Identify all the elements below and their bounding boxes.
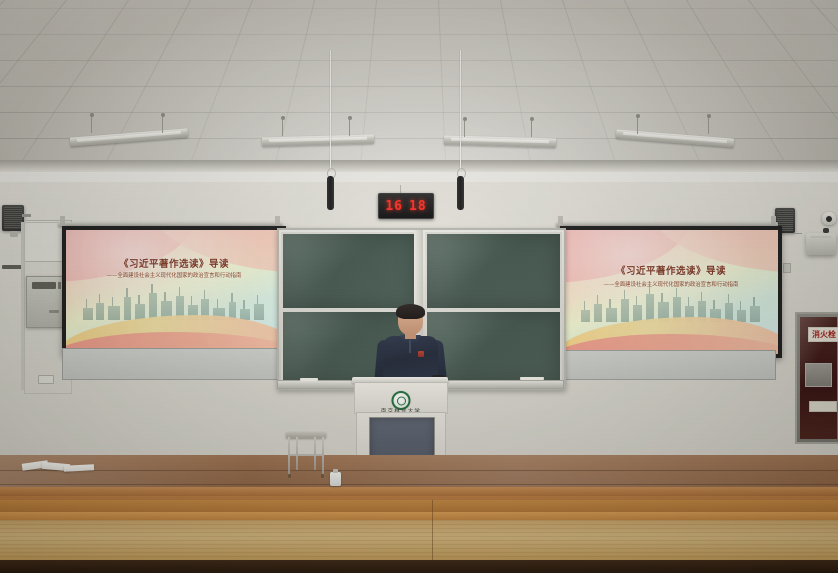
light-mount: [707, 114, 711, 118]
cord-grip-left[interactable]: [327, 176, 334, 210]
cabinet-glass-reflection: [800, 317, 837, 439]
stool-foot-2: [321, 474, 324, 478]
left-screen-bracket-b: [275, 216, 280, 226]
security-camera: [822, 212, 836, 225]
light-mount: [90, 113, 94, 117]
right-slide: 《习近平著作选读》导读 ——全面建设社会主义现代化国家的政治宣言和行动指南: [564, 230, 778, 354]
desk-wood-grain: [0, 520, 838, 562]
cabinet-interior: 消火栓: [800, 317, 837, 439]
light-rod: [282, 119, 283, 136]
stage-nosing: [0, 487, 838, 496]
lectern-header: 南京林业大学: [354, 382, 448, 414]
light-mount: [161, 113, 165, 117]
projector-vent: [811, 236, 831, 238]
emblem-core: [397, 396, 406, 405]
stool-seat: [286, 432, 326, 438]
light-rod: [464, 120, 465, 137]
shirt-logo: [418, 351, 424, 357]
panel-display-slot: [32, 282, 56, 289]
speaker-grill: [4, 207, 22, 229]
led-wall-clock: 16 18: [378, 193, 434, 219]
right-screen-bracket-a: [558, 216, 563, 226]
wall-switch-right[interactable]: [783, 263, 791, 273]
ceiling-projector-right: [806, 233, 836, 255]
left-slide: 《习近平著作选读》导读 ——全面建设社会主义现代化国家的政治宣言和行动指南: [66, 230, 282, 352]
water-bottle[interactable]: [330, 472, 341, 486]
polo-placket: [409, 340, 411, 353]
light-rod: [531, 120, 532, 137]
cord-grip-right[interactable]: [457, 176, 464, 210]
slide-glare-right: [564, 230, 778, 354]
right-projection-screen: 《习近平著作选读》导读 ——全面建设社会主义现代化国家的政治宣言和行动指南: [560, 226, 782, 358]
speaker-bracket-left: [10, 231, 18, 237]
bottle-cap: [333, 469, 338, 473]
panel-handle[interactable]: [49, 310, 59, 313]
light-rod: [708, 117, 709, 134]
chalk-piece-2[interactable]: [520, 377, 544, 380]
light-mount: [281, 116, 285, 120]
screen-pull-cord-right[interactable]: [460, 50, 461, 170]
speaker-cable: [780, 233, 802, 234]
speaker-mount-left: [22, 214, 31, 217]
blackboard-panel-tl: [281, 232, 416, 310]
stool-foot-1: [288, 474, 291, 478]
presenter-hair: [396, 304, 425, 319]
stage-seam-1: [0, 470, 838, 471]
slide-glare-left: [66, 230, 282, 352]
presenter: [376, 306, 448, 388]
light-mount: [463, 117, 467, 121]
camera-lens: [826, 216, 832, 222]
left-screen-bracket-a: [60, 216, 65, 226]
wall-conduit-left: [21, 222, 24, 390]
clock-hours: 16: [385, 199, 403, 214]
screen-pull-cord-left[interactable]: [330, 50, 331, 170]
light-mount: [636, 114, 640, 118]
clock-minutes: 18: [409, 199, 427, 214]
wall-top-shadow: [0, 160, 838, 172]
light-rod: [637, 117, 638, 134]
lecture-hall-photo: 16 18 消火栓: [0, 0, 838, 573]
right-screen-lower-panel: [560, 350, 776, 380]
suspended-ceiling: [0, 0, 838, 165]
stool-leg-1: [288, 437, 290, 475]
light-rod: [162, 116, 163, 133]
light-mount: [348, 116, 352, 120]
desk-shadow-base: [0, 560, 838, 573]
stool-leg-4: [322, 437, 324, 475]
fire-hydrant-cabinet[interactable]: 消火栓: [795, 312, 838, 444]
light-rod: [91, 116, 92, 133]
stool-rail: [288, 454, 324, 456]
right-screen-bracket-b: [771, 216, 776, 226]
desk-seam: [432, 500, 433, 562]
wall-highlight-band: [0, 172, 838, 182]
light-mount: [530, 117, 534, 121]
light-rod: [349, 119, 350, 136]
panel-indicator: [58, 282, 61, 289]
wall-vent-left: [2, 265, 22, 269]
metal-stool[interactable]: [286, 432, 326, 477]
chalk-piece-1[interactable]: [300, 378, 318, 381]
electrical-panel-box[interactable]: [26, 276, 67, 328]
wall-outlet-left[interactable]: [38, 375, 54, 384]
stage-seam-2: [0, 484, 838, 485]
blackboard-panel-tr: [425, 232, 562, 310]
left-screen-lower-panel: [62, 348, 280, 380]
left-projection-screen: 《习近平著作选读》导读 ——全面建设社会主义现代化国家的政治宣言和行动指南: [62, 226, 286, 356]
